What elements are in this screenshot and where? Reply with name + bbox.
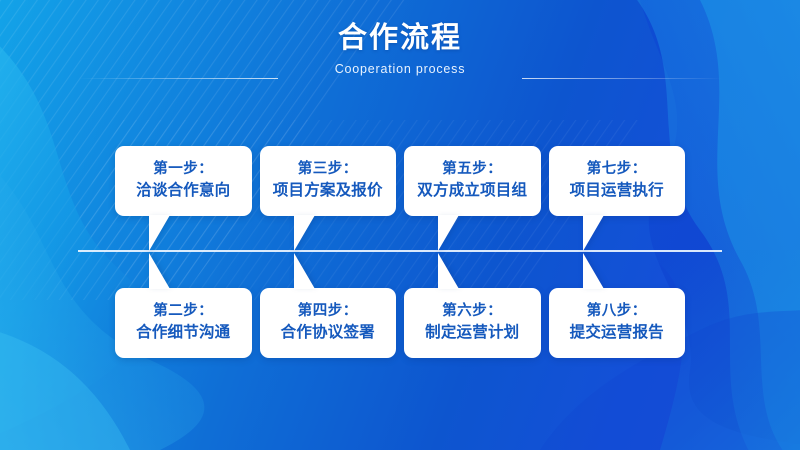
step-card-2[interactable]: 第二步： 合作细节沟通 xyxy=(115,288,252,358)
step-card-2-text: 合作细节沟通 xyxy=(136,323,230,343)
step-card-3-label: 第三步： xyxy=(298,161,358,178)
step-card-4-tail xyxy=(294,253,315,289)
page-title: 合作流程 xyxy=(0,22,800,55)
step-card-1-text: 洽谈合作意向 xyxy=(136,181,230,201)
step-card-2-label: 第二步： xyxy=(153,303,213,320)
step-card-1[interactable]: 第一步： 洽谈合作意向 xyxy=(115,146,252,216)
header-rule-right xyxy=(522,78,722,79)
step-card-4-label: 第四步： xyxy=(298,303,358,320)
step-card-3-tail xyxy=(294,215,315,251)
step-card-2-tail xyxy=(149,253,170,289)
step-card-5-label: 第五步： xyxy=(442,161,502,178)
step-card-3[interactable]: 第三步： 项目方案及报价 xyxy=(260,146,397,216)
step-card-3-text: 项目方案及报价 xyxy=(273,181,383,201)
step-card-8[interactable]: 第八步： 提交运营报告 xyxy=(549,288,686,358)
step-card-1-label: 第一步： xyxy=(153,161,213,178)
step-row-bottom: 第二步： 合作细节沟通 第四步： 合作协议签署 第六步： 制定运营计划 第八步：… xyxy=(115,288,685,358)
step-card-4-text: 合作协议签署 xyxy=(281,323,375,343)
step-card-6-text: 制定运营计划 xyxy=(425,323,519,343)
step-card-5[interactable]: 第五步： 双方成立项目组 xyxy=(404,146,541,216)
slide-header: 合作流程 Cooperation process xyxy=(0,22,800,76)
step-card-5-tail xyxy=(438,215,459,251)
page-subtitle: Cooperation process xyxy=(0,62,800,76)
step-card-7-tail xyxy=(583,215,604,251)
slide-canvas: 合作流程 Cooperation process 第一步： 洽谈合作意向 第三步… xyxy=(0,0,800,450)
step-card-7-label: 第七步： xyxy=(587,161,647,178)
step-card-8-text: 提交运营报告 xyxy=(570,323,664,343)
step-card-4[interactable]: 第四步： 合作协议签署 xyxy=(260,288,397,358)
step-card-7-text: 项目运营执行 xyxy=(570,181,664,201)
step-card-8-tail xyxy=(583,253,604,289)
step-card-6-label: 第六步： xyxy=(442,303,502,320)
step-card-8-label: 第八步： xyxy=(587,303,647,320)
timeline-divider xyxy=(78,250,722,252)
step-card-6[interactable]: 第六步： 制定运营计划 xyxy=(404,288,541,358)
step-card-5-text: 双方成立项目组 xyxy=(417,181,527,201)
step-card-6-tail xyxy=(438,253,459,289)
step-card-1-tail xyxy=(149,215,170,251)
step-card-7[interactable]: 第七步： 项目运营执行 xyxy=(549,146,686,216)
header-rule-left xyxy=(78,78,278,79)
step-row-top: 第一步： 洽谈合作意向 第三步： 项目方案及报价 第五步： 双方成立项目组 第七… xyxy=(115,146,685,216)
